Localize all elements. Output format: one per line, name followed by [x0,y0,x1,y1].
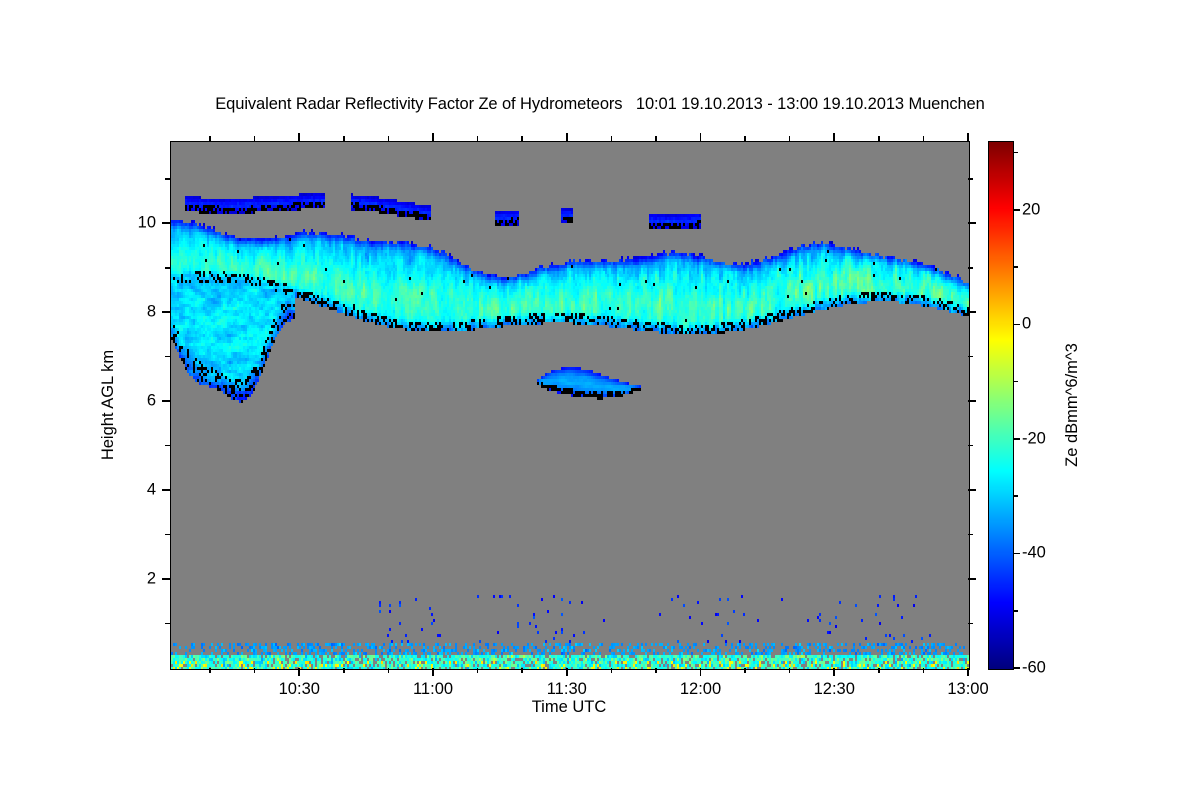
x-minor-tick-top [343,136,345,141]
y-minor-tick [165,534,170,536]
y-tick-label: 8 [118,303,156,322]
x-minor-tick-top [477,136,479,141]
y-minor-tick-right [968,178,973,180]
y-minor-tick [165,178,170,180]
y-minor-tick-right [968,534,973,536]
x-axis-title: Time UTC [170,698,968,717]
colorbar-tick-label: 0 [1022,315,1031,334]
colorbar-tick [1014,553,1020,555]
y-minor-tick [165,623,170,625]
x-major-tick [700,668,702,676]
y-tick-label: 4 [118,481,156,500]
y-minor-tick [165,267,170,269]
x-minor-tick-top [521,136,523,141]
colorbar[interactable] [988,141,1014,670]
colorbar-gradient [989,142,1013,669]
y-major-tick [162,400,170,402]
x-minor-tick [878,668,880,673]
x-minor-tick-top [923,136,925,141]
y-tick-label: 2 [118,570,156,589]
y-tick-label: 10 [118,214,156,233]
x-minor-tick [388,668,390,673]
y-minor-tick [165,356,170,358]
y-major-tick-right [968,222,976,224]
x-minor-tick [343,668,345,673]
colorbar-tick [1014,438,1020,440]
y-major-tick-right [968,400,976,402]
colorbar-tick [1014,667,1020,669]
y-minor-tick-right [968,356,973,358]
x-minor-tick [744,668,746,673]
x-minor-tick [789,668,791,673]
colorbar-title: Ze dBmm^6/m^3 [1063,343,1082,467]
x-minor-tick-top [655,136,657,141]
x-minor-tick [611,668,613,673]
x-major-tick [298,668,300,676]
x-tick-label: 11:00 [413,680,453,699]
colorbar-minor-tick [1014,266,1018,268]
y-major-tick-right [968,489,976,491]
x-major-tick [566,668,568,676]
x-minor-tick-top [388,136,390,141]
colorbar-minor-tick [1014,152,1018,154]
y-tick-label: 6 [118,392,156,411]
x-minor-tick-top [744,136,746,141]
colorbar-tick-label: -40 [1022,544,1046,563]
x-tick-label: 10:30 [279,680,320,699]
x-major-tick-top [298,133,300,141]
x-minor-tick-top [611,136,613,141]
x-major-tick-top [700,133,702,141]
x-tick-label: 11:30 [547,680,587,699]
x-major-tick-top [967,133,969,141]
y-minor-tick-right [968,623,973,625]
y-major-tick [162,489,170,491]
x-tick-label: 13:00 [947,680,988,699]
x-minor-tick [923,668,925,673]
x-minor-tick-top [789,136,791,141]
colorbar-minor-tick [1014,495,1018,497]
y-minor-tick [165,445,170,447]
x-minor-tick [254,668,256,673]
x-major-tick [833,668,835,676]
x-tick-label: 12:30 [814,680,855,699]
x-minor-tick [477,668,479,673]
x-tick-label: 12:00 [680,680,721,699]
x-minor-tick-top [254,136,256,141]
colorbar-tick [1014,324,1020,326]
y-major-tick [162,311,170,313]
x-major-tick-top [833,133,835,141]
page-title: Equivalent Radar Reflectivity Factor Ze … [0,95,1200,114]
colorbar-minor-tick [1014,610,1018,612]
y-major-tick-right [968,311,976,313]
y-major-tick [162,222,170,224]
y-axis-title: Height AGL km [99,349,118,459]
y-major-tick [162,578,170,580]
radar-heatmap [171,142,969,669]
x-minor-tick [209,668,211,673]
y-minor-tick-right [968,445,973,447]
colorbar-minor-tick [1014,381,1018,383]
x-minor-tick-top [209,136,211,141]
colorbar-tick-label: 20 [1022,200,1040,219]
y-major-tick-right [968,578,976,580]
colorbar-tick-label: -20 [1022,429,1046,448]
x-minor-tick [655,668,657,673]
x-minor-tick-top [878,136,880,141]
x-major-tick-top [432,133,434,141]
plot-area[interactable] [170,141,970,670]
colorbar-tick-label: -60 [1022,659,1046,678]
x-minor-tick [521,668,523,673]
y-minor-tick-right [968,267,973,269]
colorbar-tick [1014,209,1020,211]
radar-figure: Equivalent Radar Reflectivity Factor Ze … [0,0,1200,800]
x-major-tick [432,668,434,676]
x-major-tick [967,668,969,676]
x-major-tick-top [566,133,568,141]
